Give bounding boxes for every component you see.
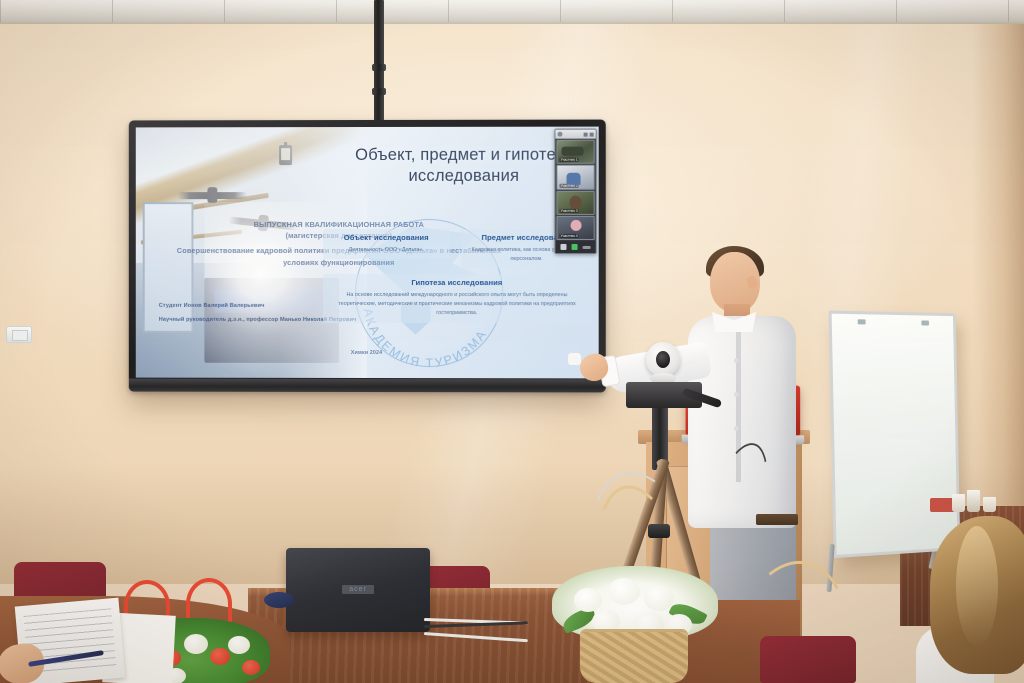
black-laptop[interactable]: acer bbox=[286, 548, 430, 632]
light-switch-rocker[interactable] bbox=[12, 330, 28, 341]
display-bottom-bezel bbox=[129, 379, 606, 393]
flower-basket-center bbox=[552, 556, 718, 683]
vc-participant-label: Участник 2 bbox=[559, 183, 578, 187]
box-object-text: Деятельность ООО «Дельта». bbox=[328, 246, 445, 255]
flower bbox=[242, 660, 260, 675]
presenter-ear bbox=[747, 276, 757, 289]
flower bbox=[644, 586, 674, 611]
flower bbox=[608, 578, 640, 605]
vc-participant-label: Участник 1 bbox=[559, 158, 578, 162]
cup bbox=[967, 490, 980, 512]
box-object-heading: Объект исследования bbox=[328, 233, 445, 242]
vc-control-bar[interactable] bbox=[555, 241, 595, 253]
chair[interactable] bbox=[760, 636, 856, 683]
more-options-icon[interactable] bbox=[583, 245, 591, 248]
shirt-button bbox=[734, 358, 739, 363]
slide-box-object: Объект исследования Деятельность ООО «Де… bbox=[323, 229, 450, 259]
tv-ceiling-mount-pole bbox=[374, 0, 384, 124]
pole-joint-lower bbox=[372, 88, 386, 95]
vc-window-buttons[interactable] bbox=[584, 132, 594, 136]
flower bbox=[574, 588, 602, 612]
paper-cups bbox=[952, 486, 1000, 512]
flower bbox=[210, 648, 230, 665]
webcam-lens-icon bbox=[656, 351, 670, 368]
vc-participant-tile[interactable]: Участник 3 bbox=[556, 190, 594, 214]
cup bbox=[952, 494, 965, 512]
black-laptop-lid: acer bbox=[286, 548, 430, 632]
shirt-button bbox=[734, 426, 739, 431]
camera-icon[interactable] bbox=[572, 244, 578, 250]
wicker-basket bbox=[580, 629, 688, 683]
vc-window-titlebar[interactable] bbox=[555, 130, 595, 139]
whiteboard-clip-right[interactable] bbox=[921, 320, 929, 325]
pole-joint-upper bbox=[372, 64, 386, 71]
light-switch[interactable] bbox=[6, 326, 32, 343]
presentation-slide: ВЫПУСКНАЯ КВАЛИФИКАЦИОННАЯ РАБОТА (магис… bbox=[136, 127, 599, 379]
conference-room-scene: ВЫПУСКНАЯ КВАЛИФИКАЦИОННАЯ РАБОТА (магис… bbox=[0, 0, 1024, 683]
vc-minimize-icon[interactable] bbox=[584, 132, 588, 136]
attendee-left bbox=[0, 600, 164, 683]
vc-status-icon bbox=[557, 132, 562, 137]
box-hypothesis-heading: Гипотеза исследования bbox=[328, 278, 587, 287]
display-screen: ВЫПУСКНАЯ КВАЛИФИКАЦИОННАЯ РАБОТА (магис… bbox=[136, 127, 599, 379]
laptop-brand-logo: acer bbox=[342, 585, 374, 594]
presentation-remote[interactable] bbox=[568, 353, 581, 365]
flower bbox=[184, 634, 208, 654]
attendee-hair-highlight bbox=[956, 526, 998, 646]
vc-participant-label: Участник 3 bbox=[559, 209, 578, 213]
attendee-right bbox=[916, 516, 1024, 683]
microphone-icon[interactable] bbox=[560, 244, 566, 250]
vc-participant-label: Участник 4 bbox=[559, 234, 578, 238]
webcam[interactable] bbox=[646, 342, 680, 376]
flower bbox=[228, 636, 250, 654]
box-hypothesis-text: На основе исследований международного и … bbox=[328, 291, 587, 319]
vc-participant-tile[interactable]: Участник 4 bbox=[556, 216, 594, 240]
cable-bundle bbox=[424, 614, 534, 640]
zoom-participant-panel[interactable]: Участник 1 Участник 2 Участник 3 Участни… bbox=[554, 129, 596, 254]
cup bbox=[983, 497, 996, 512]
vc-participant-tile[interactable]: Участник 1 bbox=[556, 140, 594, 164]
vc-participant-tile[interactable]: Участник 2 bbox=[556, 165, 594, 189]
vc-close-icon[interactable] bbox=[590, 132, 594, 136]
wall-mounted-display[interactable]: ВЫПУСКНАЯ КВАЛИФИКАЦИОННАЯ РАБОТА (магис… bbox=[129, 120, 606, 393]
whiteboard-clip-left[interactable] bbox=[858, 319, 866, 324]
vc-tile-list: Участник 1 Участник 2 Участник 3 Участни… bbox=[555, 139, 595, 241]
shirt-button bbox=[734, 392, 739, 397]
cable bbox=[424, 621, 528, 628]
slide-box-hypothesis: Гипотеза исследования На основе исследов… bbox=[323, 274, 592, 323]
